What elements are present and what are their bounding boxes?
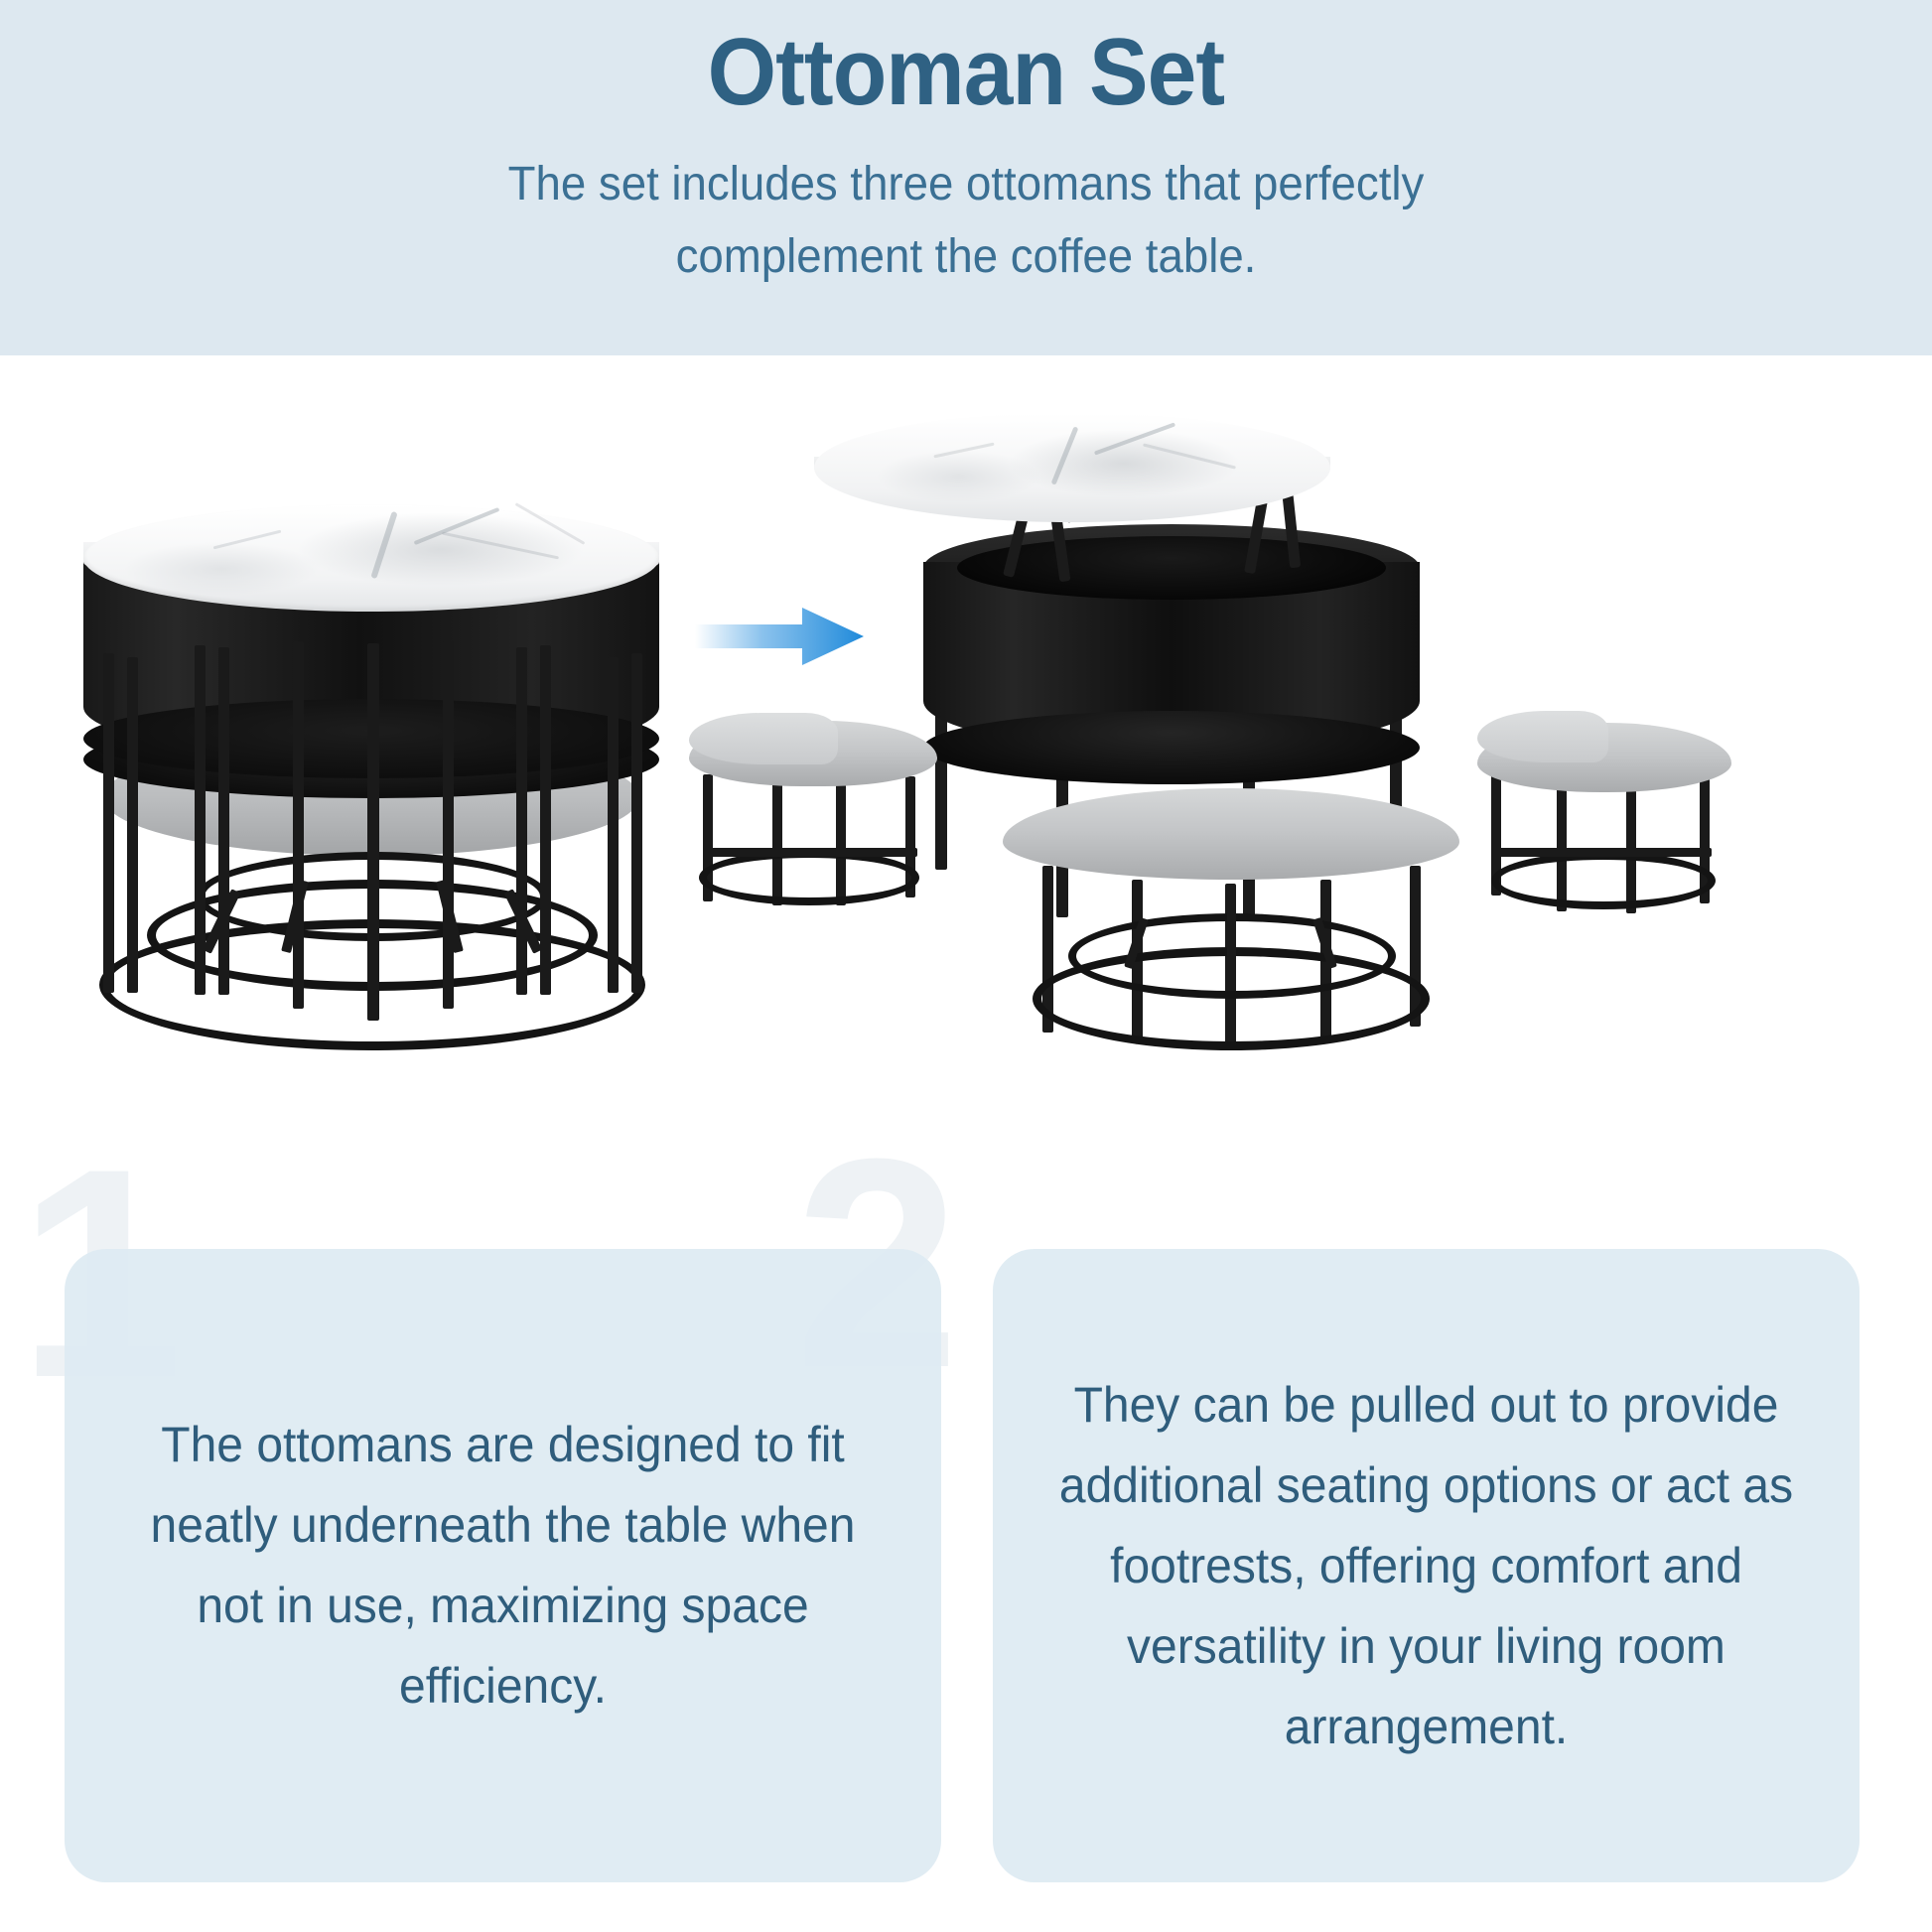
marble-vein [1051, 426, 1079, 484]
marble-vein [213, 530, 282, 550]
ottoman-cushion-back [1477, 711, 1608, 762]
ottoman-base-ring [699, 850, 919, 905]
product-photo-stage [0, 355, 1932, 1140]
info-panel-step-2: They can be pulled out to provide additi… [993, 1249, 1860, 1882]
info-panel-text-2: They can be pulled out to provide additi… [1052, 1365, 1801, 1767]
frame-leg [367, 643, 379, 1021]
arrow-right-icon [695, 606, 864, 667]
marble-table-top [83, 504, 659, 612]
frame-rail [705, 848, 917, 857]
frame-spoke [1227, 911, 1236, 969]
marble-vein [370, 511, 397, 579]
frame-leg [631, 653, 642, 993]
info-panel-step-1: The ottomans are designed to fit neatly … [65, 1249, 941, 1882]
marble-vein [1143, 443, 1236, 469]
page-title: Ottoman Set [708, 18, 1225, 127]
frame-leg [103, 653, 114, 993]
ottoman-right [1477, 707, 1745, 915]
frame-leg [608, 657, 619, 993]
frame-leg [540, 645, 551, 995]
ottoman-cushion [1003, 788, 1459, 880]
product-photo-closed [69, 504, 675, 1060]
marble-vein [933, 443, 994, 459]
ottoman-cushion-back [689, 713, 838, 764]
info-panel-text-1: The ottomans are designed to fit neatly … [124, 1405, 882, 1726]
frame-leg [218, 647, 229, 995]
frame-leg [195, 645, 206, 995]
metal-frame-base [69, 792, 675, 1060]
frame-rail [1495, 848, 1712, 857]
transition-arrow [695, 606, 864, 667]
marble-vein [515, 502, 586, 545]
frame-leg [293, 641, 304, 1009]
table-drum-bottom [923, 711, 1420, 784]
frame-leg [443, 641, 454, 1009]
ottoman-left [685, 711, 943, 909]
ottoman-base-ring [1491, 852, 1716, 909]
hidden-storage-cavity [957, 536, 1386, 600]
header-subtitle: The set includes three ottomans that per… [391, 149, 1542, 294]
lift-top-marble [814, 413, 1330, 522]
frame-leg [127, 657, 138, 993]
marble-vein [414, 507, 500, 545]
product-photo-open [874, 413, 1906, 1128]
header-band: Ottoman Set The set includes three ottom… [0, 0, 1932, 355]
marble-vein [442, 532, 559, 560]
frame-leg [516, 647, 527, 995]
frame-spoke [367, 876, 377, 953]
ottoman-front [1003, 788, 1459, 1046]
